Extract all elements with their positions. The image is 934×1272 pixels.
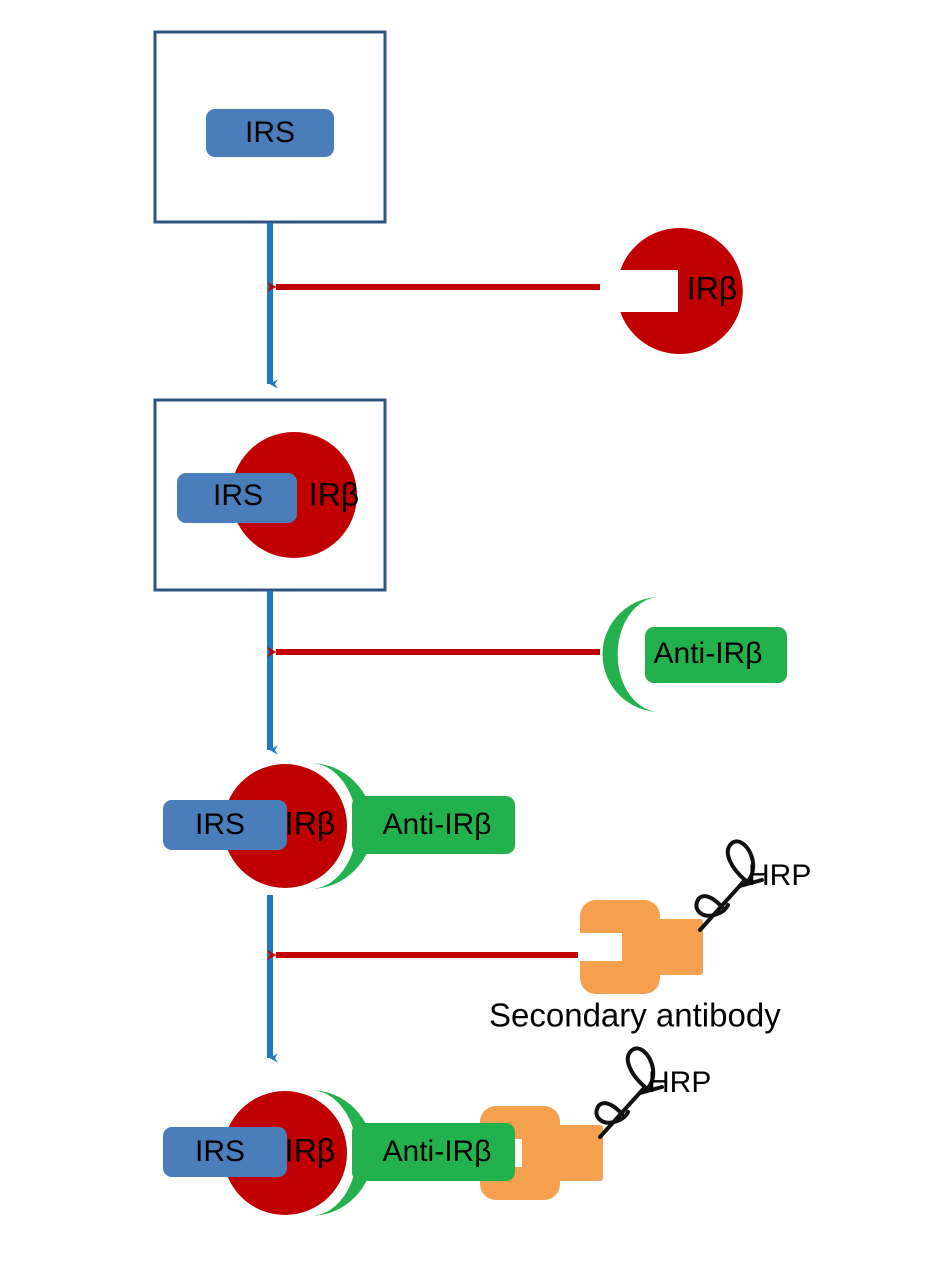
reagent-3-group: HRP Secondary antibody (276, 841, 811, 1033)
irb-label-step-3: IRβ (285, 805, 335, 841)
secondary-antibody-caption: Secondary antibody (489, 997, 781, 1034)
anti-irb-label-step-3: Anti-IRβ (383, 808, 492, 841)
irs-label-step-4: IRS (195, 1135, 245, 1168)
irs-label-step-2: IRS (213, 479, 263, 512)
step-3-group: IRS IRβ Anti-IRβ (163, 763, 515, 889)
hrp-label-step-4: HRP (648, 1066, 711, 1099)
reagent-1-group: IRβ (276, 228, 743, 354)
diagram-canvas: IRS IRβ IRS IRβ (0, 0, 934, 1272)
anti-irb-label-reagent-2: Anti-IRβ (654, 637, 763, 670)
step-1-group: IRS (155, 32, 385, 222)
irb-label-reagent-1: IRβ (687, 270, 737, 306)
irb-label-step-2: IRβ (309, 476, 359, 512)
hrp-label-reagent-3: HRP (748, 859, 811, 892)
irs-label-step-1: IRS (245, 116, 295, 149)
secondary-antibody-shape-reagent (580, 900, 703, 994)
irb-label-step-4: IRβ (285, 1132, 335, 1168)
irs-label-step-3: IRS (195, 808, 245, 841)
step-2-group: IRS IRβ (155, 400, 385, 590)
step-4-group: IRS IRβ Anti-IRβ HRP (163, 1048, 711, 1216)
reagent-2-group: Anti-IRβ (276, 597, 787, 712)
anti-irb-label-step-4: Anti-IRβ (383, 1135, 492, 1168)
